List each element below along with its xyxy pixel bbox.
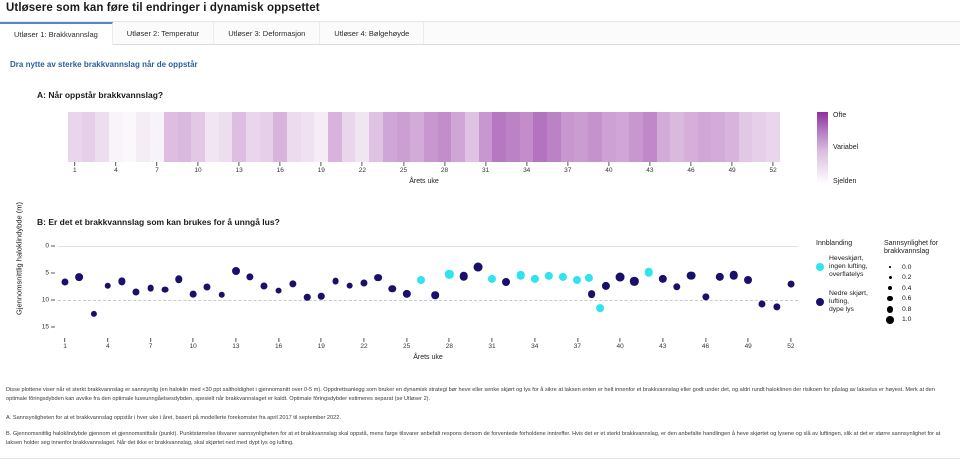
- size-legend-item[interactable]: 0.0: [884, 263, 938, 272]
- x-tick-label: 37: [574, 343, 581, 350]
- heatmap-cell: [301, 112, 315, 162]
- scatter-point: [573, 276, 581, 284]
- scatter-point: [190, 291, 197, 298]
- scatter-point: [318, 293, 325, 300]
- x-tick: 34: [523, 162, 530, 174]
- heatmap-cell: [219, 112, 233, 162]
- heatmap-cell: [766, 112, 780, 162]
- size-legend-label: 0.4: [902, 285, 911, 292]
- heatmap-cell: [520, 112, 534, 162]
- heatmap-cell: [725, 112, 739, 162]
- heatmap-cell: [369, 112, 383, 162]
- scatter-point: [90, 311, 96, 317]
- x-tick: 52: [787, 338, 794, 350]
- color-legend-label: Nedre skjørt,lufting,dype lys: [829, 290, 868, 314]
- footnote-b: B. Gjennomsnittlig haloklindybde gjennom…: [6, 430, 954, 447]
- x-tick: 22: [359, 162, 366, 174]
- heatmap-cell: [506, 112, 520, 162]
- heatmap-cell: [260, 112, 274, 162]
- x-tick-label: 46: [687, 167, 694, 174]
- x-tick: 43: [659, 338, 666, 350]
- heatmap-cell: [698, 112, 712, 162]
- color-legend-title: Innblanding: [816, 240, 868, 247]
- x-tick-label: 7: [149, 343, 153, 350]
- x-tick-label: 7: [155, 167, 159, 174]
- size-legend-item[interactable]: 0.4: [884, 284, 938, 293]
- x-tick-label: 40: [616, 343, 623, 350]
- tab-bar: Utløser 1: BrakkvannslagUtløser 2: Tempe…: [0, 22, 960, 45]
- scatter-point: [773, 303, 780, 310]
- x-tick: 16: [275, 338, 282, 350]
- x-tick: 7: [155, 162, 159, 174]
- heatmap-cell: [314, 112, 328, 162]
- heatmap-cell: [383, 112, 397, 162]
- size-legend-label: 0.6: [902, 295, 911, 302]
- x-tick-label: 28: [441, 167, 448, 174]
- scatter-point: [118, 278, 125, 285]
- x-tick-label: 28: [446, 343, 453, 350]
- x-tick-label: 25: [403, 343, 410, 350]
- scatter-point: [204, 283, 211, 290]
- color-legend-label: Heveskjørt,ingen lufting,overflatelys: [829, 255, 868, 279]
- size-legend-label: 0.8: [902, 306, 911, 313]
- scatter-x-axis-label: Årets uke: [58, 354, 798, 361]
- scatter-point: [488, 275, 496, 283]
- footnote-main: Disse plottene viser når et sterkt brakk…: [6, 386, 954, 403]
- x-tick: 19: [318, 338, 325, 350]
- heatmap-cell: [657, 112, 671, 162]
- x-tick: 40: [616, 338, 623, 350]
- x-tick-label: 1: [63, 343, 67, 350]
- section-a-title: A: Når oppstår brakkvannslag?: [37, 90, 163, 100]
- x-tick-label: 19: [318, 167, 325, 174]
- y-tick-label: 15: [42, 324, 55, 331]
- tab-1[interactable]: Utløser 1: Brakkvannslag: [0, 22, 113, 45]
- heatmap-cell: [684, 112, 698, 162]
- x-tick: 7: [149, 338, 153, 350]
- scatter-point: [596, 304, 604, 312]
- x-tick-label: 4: [106, 343, 110, 350]
- heatmap-cell: [574, 112, 588, 162]
- heatmap-cell: [150, 112, 164, 162]
- heatmap-cell: [246, 112, 260, 162]
- x-tick: 13: [232, 338, 239, 350]
- x-tick: 40: [605, 162, 612, 174]
- scatter-point: [161, 286, 168, 293]
- x-tick: 46: [702, 338, 709, 350]
- scatter-point: [360, 280, 367, 287]
- x-tick: 1: [73, 162, 77, 174]
- x-tick-label: 22: [359, 167, 366, 174]
- x-tick-label: 37: [564, 167, 571, 174]
- scatter-point: [133, 289, 140, 296]
- tab-label: Utløser 3: Deformasjon: [228, 29, 305, 38]
- x-tick: 31: [488, 338, 495, 350]
- gridline: [58, 300, 798, 301]
- legend-size-swatch-icon: [884, 296, 896, 301]
- heatmap-cell: [602, 112, 616, 162]
- heatmap-cell: [424, 112, 438, 162]
- heatmap-cell: [273, 112, 287, 162]
- y-tick-label: 10: [42, 297, 55, 304]
- x-tick-label: 13: [232, 343, 239, 350]
- heatmap-cell: [533, 112, 547, 162]
- x-tick-label: 43: [646, 167, 653, 174]
- heatmap-cell: [752, 112, 766, 162]
- heatmap-cell: [232, 112, 246, 162]
- scatter-point: [616, 272, 625, 281]
- scatter-point: [473, 263, 482, 272]
- scatter-point: [389, 285, 396, 292]
- scatter-point: [246, 273, 253, 280]
- tab-label: Utløser 4: Bølgehøyde: [334, 29, 409, 38]
- x-tick-label: 1: [73, 167, 77, 174]
- heatmap-cell: [95, 112, 109, 162]
- heatmap-cell: [670, 112, 684, 162]
- heatmap-cell: [205, 112, 219, 162]
- scatter-point: [459, 272, 468, 281]
- scatter-point: [374, 274, 382, 282]
- legend-size-swatch-icon: [884, 276, 896, 279]
- y-tick-label: 0: [45, 243, 55, 250]
- x-tick-label: 40: [605, 167, 612, 174]
- heatmap-cell: [355, 112, 369, 162]
- size-legend-label: 0.0: [902, 264, 911, 271]
- scatter-point: [602, 282, 610, 290]
- scatter-point: [585, 274, 593, 282]
- x-tick: 10: [190, 338, 197, 350]
- x-tick: 28: [441, 162, 448, 174]
- scatter-point: [673, 283, 680, 290]
- scatter-point: [147, 285, 154, 292]
- tab-label: Utløser 2: Temperatur: [127, 29, 199, 38]
- x-tick-label: 49: [728, 167, 735, 174]
- legend-swatch-icon: [816, 298, 824, 306]
- scatter-point: [75, 273, 83, 281]
- scatter-point: [175, 276, 182, 283]
- heatmap-cell: [711, 112, 725, 162]
- tab-2[interactable]: Utløser 2: Temperatur: [113, 22, 214, 44]
- footnote-a: A. Sannsynligheten for at et brakkvannsl…: [6, 414, 954, 423]
- x-tick-label: 31: [488, 343, 495, 350]
- heatmap-cell: [561, 112, 575, 162]
- gridline: [58, 246, 798, 247]
- heatmap-cell: [136, 112, 150, 162]
- footer-divider: [0, 458, 960, 459]
- scatter-point: [730, 271, 739, 280]
- heatmap-cell: [739, 112, 753, 162]
- x-tick: 4: [106, 338, 110, 350]
- x-tick: 28: [446, 338, 453, 350]
- heatmap-cell: [109, 112, 123, 162]
- x-tick-label: 52: [787, 343, 794, 350]
- size-legend-label: 1.0: [902, 316, 911, 323]
- page-title: Utløsere som kan føre til endringer i dy…: [6, 2, 320, 14]
- x-tick-label: 13: [236, 167, 243, 174]
- section-b-title: B: Er det et brakkvannslag som kan bruke…: [37, 217, 280, 227]
- x-tick: 52: [770, 162, 777, 174]
- size-legend-item[interactable]: 0.6: [884, 294, 938, 303]
- x-tick-label: 34: [531, 343, 538, 350]
- scatter-point: [445, 270, 453, 278]
- scatter-point: [744, 276, 752, 284]
- x-tick-label: 52: [770, 167, 777, 174]
- x-tick: 34: [531, 338, 538, 350]
- scatter-point: [431, 292, 439, 300]
- tab-3[interactable]: Utløser 3: Deformasjon: [214, 22, 320, 44]
- heatmap-cell: [438, 112, 452, 162]
- heatmap-cell: [410, 112, 424, 162]
- size-legend-item[interactable]: 0.8: [884, 305, 938, 314]
- scatter-point: [716, 273, 724, 281]
- x-tick-label: 4: [114, 167, 118, 174]
- legend-size-swatch-icon: [884, 316, 896, 324]
- heatmap-cell: [643, 112, 657, 162]
- scatter-point: [261, 283, 268, 290]
- scatter-point: [559, 273, 567, 281]
- x-tick: 19: [318, 162, 325, 174]
- scatter-point: [644, 268, 653, 277]
- heatmap-cell: [629, 112, 643, 162]
- heatmap-x-axis-label: Årets uke: [68, 178, 780, 185]
- size-legend-title: Sannsynlighet forbrakkvannslag: [884, 240, 938, 257]
- scatter-point: [687, 271, 696, 280]
- heatmap-cell: [287, 112, 301, 162]
- x-tick: 13: [236, 162, 243, 174]
- scatter-point: [545, 271, 553, 279]
- color-legend: Innblanding Heveskjørt,ingen lufting,ove…: [816, 240, 868, 325]
- heatmap-cell: [616, 112, 630, 162]
- x-tick: 31: [482, 162, 489, 174]
- scatter-point: [516, 271, 525, 280]
- section-subtitle: Dra nytte av sterke brakkvannslag når de…: [10, 60, 198, 69]
- x-tick-label: 16: [275, 343, 282, 350]
- size-legend: Sannsynlighet forbrakkvannslag 0.00.20.4…: [884, 240, 938, 326]
- x-tick-label: 16: [277, 167, 284, 174]
- scatter-point: [62, 278, 69, 285]
- x-tick-label: 19: [318, 343, 325, 350]
- x-tick-label: 49: [745, 343, 752, 350]
- heatmap-cell: [479, 112, 493, 162]
- scatter-point: [502, 278, 510, 286]
- heatmap-cell: [465, 112, 479, 162]
- size-legend-item[interactable]: 1.0: [884, 315, 938, 324]
- heatmap-cell: [164, 112, 178, 162]
- x-tick-label: 31: [482, 167, 489, 174]
- x-tick-label: 34: [523, 167, 530, 174]
- colorbar-label-variable: Variabel: [833, 144, 858, 151]
- size-legend-item[interactable]: 0.2: [884, 273, 938, 282]
- x-tick: 25: [400, 162, 407, 174]
- tab-4[interactable]: Utløser 4: Bølgehøyde: [320, 22, 424, 44]
- heatmap-cell: [397, 112, 411, 162]
- x-tick: 22: [360, 338, 367, 350]
- heatmap-cell: [191, 112, 205, 162]
- x-tick: 37: [564, 162, 571, 174]
- scatter-point: [304, 294, 311, 301]
- legend-swatch-icon: [816, 263, 824, 271]
- scatter-point: [588, 290, 596, 298]
- color-legend-item[interactable]: Heveskjørt,ingen lufting,overflatelys: [816, 255, 868, 279]
- y-tick-label: 5: [45, 270, 55, 277]
- x-tick: 46: [687, 162, 694, 174]
- x-tick: 1: [63, 338, 67, 350]
- x-tick-label: 25: [400, 167, 407, 174]
- x-tick: 25: [403, 338, 410, 350]
- x-tick: 37: [574, 338, 581, 350]
- scatter-y-axis-label: Gjennomsnittlig haloklindybde (m): [15, 199, 24, 319]
- colorbar-label-often: Ofte: [833, 112, 846, 119]
- colorbar: [817, 112, 828, 184]
- heatmap-cell: [342, 112, 356, 162]
- scatter-point: [218, 292, 225, 299]
- scatter-point: [630, 277, 638, 285]
- colorbar-label-rare: Sjelden: [833, 178, 856, 185]
- legend-size-swatch-icon: [884, 286, 896, 290]
- scatter-point: [531, 275, 539, 283]
- heatmap-cell: [68, 112, 82, 162]
- heatmap-cell: [547, 112, 561, 162]
- scatter-point: [289, 281, 296, 288]
- x-tick: 4: [114, 162, 118, 174]
- size-legend-label: 0.2: [902, 274, 911, 281]
- scatter-point: [402, 290, 410, 298]
- heatmap-cell: [123, 112, 137, 162]
- x-tick: 16: [277, 162, 284, 174]
- scatter-point: [659, 275, 667, 283]
- x-tick-label: 10: [190, 343, 197, 350]
- x-tick-label: 22: [360, 343, 367, 350]
- color-legend-item[interactable]: Nedre skjørt,lufting,dype lys: [816, 290, 868, 314]
- scatter-point: [332, 277, 339, 284]
- heatmap-cell: [492, 112, 506, 162]
- heatmap-cell: [451, 112, 465, 162]
- x-tick: 10: [194, 162, 201, 174]
- legend-size-swatch-icon: [884, 266, 896, 268]
- scatter-point: [759, 300, 766, 307]
- scatter-point: [787, 281, 794, 288]
- dashboard-page: Utløsere som kan føre til endringer i dy…: [0, 0, 960, 462]
- x-tick: 43: [646, 162, 653, 174]
- x-tick-label: 10: [194, 167, 201, 174]
- scatter-point: [417, 276, 425, 284]
- tab-label: Utløser 1: Brakkvannslag: [14, 30, 98, 39]
- heatmap-cell: [82, 112, 96, 162]
- heatmap-cell: [328, 112, 342, 162]
- x-tick-label: 43: [659, 343, 666, 350]
- scatter-chart: 051015: [58, 240, 798, 338]
- scatter-point: [232, 267, 240, 275]
- x-tick: 49: [745, 338, 752, 350]
- legend-size-swatch-icon: [884, 306, 896, 313]
- heatmap-cell: [178, 112, 192, 162]
- heatmap-chart: [68, 112, 780, 162]
- heatmap-cell: [588, 112, 602, 162]
- x-tick-label: 46: [702, 343, 709, 350]
- heatmap-strip: [68, 112, 780, 162]
- scatter-point: [346, 282, 353, 289]
- x-tick: 49: [728, 162, 735, 174]
- scatter-point: [105, 283, 112, 290]
- scatter-point: [275, 287, 282, 294]
